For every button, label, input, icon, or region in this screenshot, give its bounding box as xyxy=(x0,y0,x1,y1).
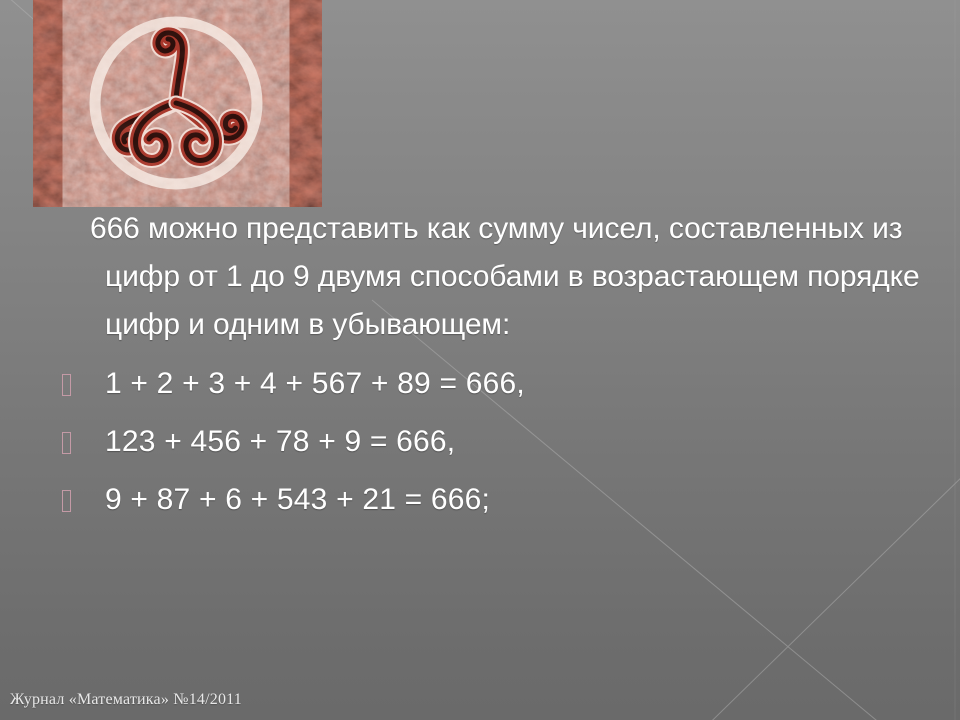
equation-text: 9 + 87 + 6 + 543 + 21 = 666; xyxy=(105,481,490,519)
slide: 666 можно представить как сумму чисел, с… xyxy=(0,0,960,720)
list-item: 1 + 2 + 3 + 4 + 567 + 89 = 666, xyxy=(0,365,960,423)
bullet-box-icon xyxy=(62,432,71,454)
equation-list: 1 + 2 + 3 + 4 + 567 + 89 = 666, 123 + 45… xyxy=(0,365,960,539)
equation-text: 123 + 456 + 78 + 9 = 666, xyxy=(105,423,455,461)
bullet-box-icon xyxy=(62,374,71,396)
list-item: 123 + 456 + 78 + 9 = 666, xyxy=(0,423,960,481)
triple-six-emblem-image xyxy=(33,0,322,207)
equation-text: 1 + 2 + 3 + 4 + 567 + 89 = 666, xyxy=(105,365,525,403)
bullet-box-icon xyxy=(62,490,71,512)
list-item: 9 + 87 + 6 + 543 + 21 = 666; xyxy=(0,481,960,539)
emblem-artwork xyxy=(33,0,322,207)
intro-paragraph: 666 можно представить как сумму чисел, с… xyxy=(0,205,960,349)
source-citation: Журнал «Математика» №14/2011 xyxy=(10,690,242,710)
slide-content: 666 можно представить как сумму чисел, с… xyxy=(0,205,960,539)
